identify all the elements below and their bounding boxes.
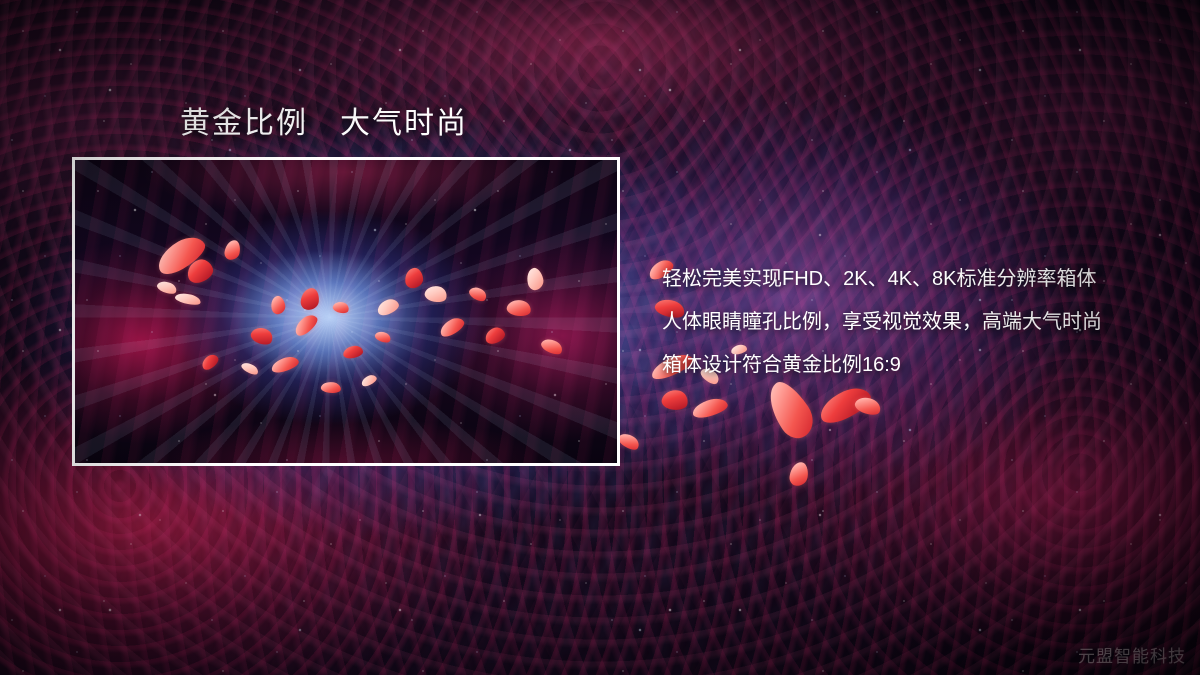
body-line: 箱体设计符合黄金比例16:9 <box>662 344 1182 387</box>
framed-image <box>72 157 620 466</box>
page-title: 黄金比例 大气时尚 <box>180 98 468 142</box>
body-line: 人体眼睛瞳孔比例，享受视觉效果，高端大气时尚 <box>662 301 1182 344</box>
body-text-block: 轻松完美实现FHD、2K、4K、8K标准分辨率箱体 人体眼睛瞳孔比例，享受视觉效… <box>662 258 1182 387</box>
body-line: 轻松完美实现FHD、2K、4K、8K标准分辨率箱体 <box>662 258 1182 301</box>
presentation-slide: 黄金比例 大气时尚 轻松完美实现FHD、2K、4K、8K标准分辨率箱体 人体眼睛… <box>0 0 1200 675</box>
watermark: 元盟智能科技 <box>1078 642 1186 667</box>
